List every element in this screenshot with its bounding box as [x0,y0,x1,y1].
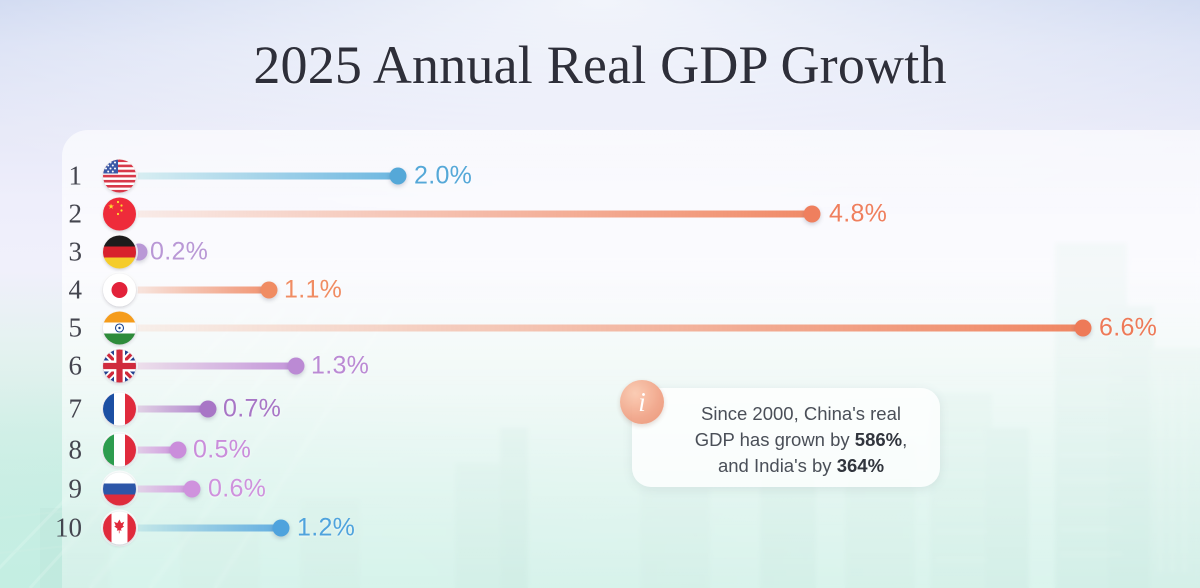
value-label: 0.5% [193,436,251,465]
bar-track [119,173,398,180]
flag-it-icon [103,434,136,467]
chart-row: 1 2.0% [0,157,1200,195]
value-label: 0.6% [208,475,266,504]
info-callout: i Since 2000, China's realGDP has grown … [632,388,940,487]
bar-end-dot [184,481,201,498]
value-label: 4.8% [829,200,887,229]
flag-ru-icon [103,473,136,506]
rank-number: 4 [42,275,82,306]
value-label: 1.3% [311,352,369,381]
chart-row: 7 0.7% [0,390,1200,428]
rank-number: 8 [42,435,82,466]
flag-in-icon [103,312,136,345]
bar-track [119,525,281,532]
value-label: 1.1% [284,276,342,305]
flag-ca-icon [103,512,136,545]
bar-end-dot [170,442,187,459]
flag-de-icon [103,236,136,269]
rank-number: 9 [42,474,82,505]
gdp-growth-chart: 1 2.0%2 4.8%3 0.2%4 1.1%5 6.6%6 1.3%7 0.… [0,0,1200,588]
value-label: 1.2% [297,514,355,543]
bar-end-dot [1075,320,1092,337]
bar-end-dot [200,401,217,418]
rank-number: 10 [42,513,82,544]
chart-row: 9 0.6% [0,470,1200,508]
chart-row: 2 4.8% [0,195,1200,233]
chart-row: 8 0.5% [0,431,1200,469]
flag-gb-icon [103,350,136,383]
bar-end-dot [804,206,821,223]
chart-row: 3 0.2% [0,233,1200,271]
value-label: 6.6% [1099,314,1157,343]
rank-number: 2 [42,199,82,230]
chart-row: 4 1.1% [0,271,1200,309]
flag-cn-icon [103,198,136,231]
flag-jp-icon [103,274,136,307]
bar-end-dot [273,520,290,537]
chart-row: 6 1.3% [0,347,1200,385]
bar-end-dot [390,168,407,185]
bar-track [119,287,269,294]
rank-number: 6 [42,351,82,382]
chart-row: 10 1.2% [0,509,1200,547]
info-callout-text: Since 2000, China's realGDP has grown by… [678,401,924,479]
bar-end-dot [288,358,305,375]
info-icon: i [620,380,664,424]
rank-number: 1 [42,161,82,192]
chart-row: 5 6.6% [0,309,1200,347]
rank-number: 7 [42,394,82,425]
bar-track [119,363,296,370]
bar-end-dot [261,282,278,299]
bar-track [119,325,1083,332]
value-label: 0.2% [150,238,208,267]
bar-track [119,211,812,218]
rank-number: 5 [42,313,82,344]
value-label: 0.7% [223,395,281,424]
value-label: 2.0% [414,162,472,191]
flag-fr-icon [103,393,136,426]
flag-us-icon [103,160,136,193]
rank-number: 3 [42,237,82,268]
